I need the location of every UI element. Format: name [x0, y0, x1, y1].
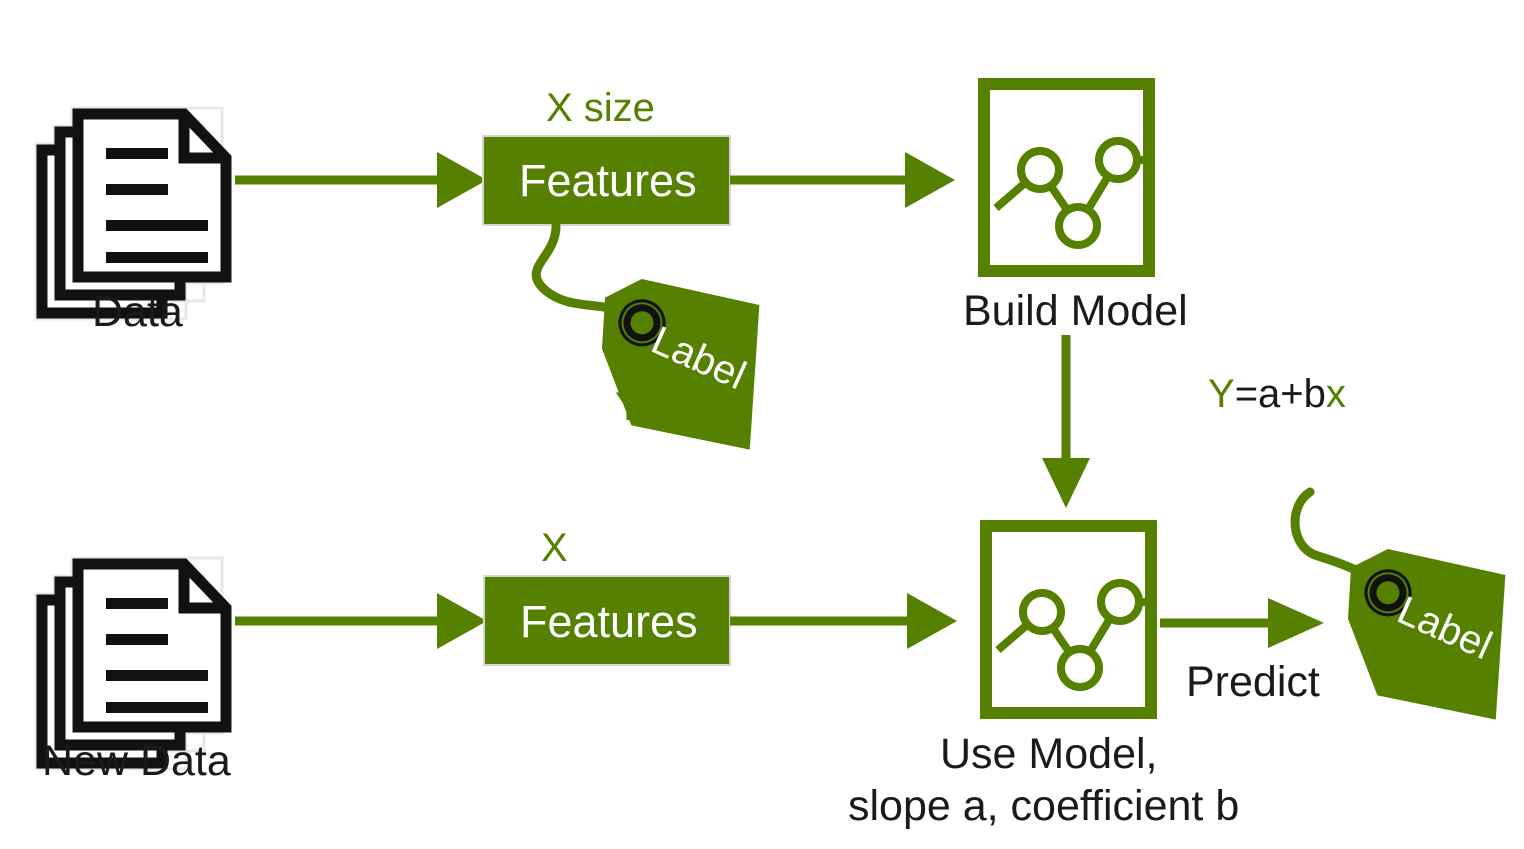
features-bottom-annotation: X — [541, 528, 568, 568]
use-model-caption-line2: slope a, coefficient b — [848, 785, 1239, 828]
model-formula: Y=a+bx — [1208, 374, 1346, 414]
use-model-caption-line1: Use Model, — [940, 733, 1157, 776]
tag-annotation-y: Y — [615, 387, 642, 427]
formula-middle: =a+b — [1235, 372, 1326, 416]
build-model-caption: Build Model — [963, 290, 1188, 333]
arrow-features-to-use-model — [730, 593, 957, 649]
arrow-predict — [1160, 598, 1324, 648]
predict-label: Predict — [1186, 661, 1320, 704]
diagram-graphics — [0, 0, 1524, 849]
features-top-annotation: X size — [546, 88, 655, 128]
arrow-data-to-features — [235, 152, 487, 208]
data-caption: Data — [92, 291, 183, 334]
arrow-features-to-build-model — [730, 152, 955, 208]
arrow-newdata-to-features — [235, 593, 487, 649]
formula-lhs: Y — [1208, 372, 1235, 416]
new-data-caption: New Data — [42, 740, 231, 783]
build-model-icon — [984, 84, 1149, 271]
formula-rhs: x — [1326, 372, 1346, 416]
diagram-canvas: X size Features Data Label Y Build Model… — [0, 0, 1524, 849]
arrow-build-to-use-model — [1042, 335, 1090, 508]
use-model-icon — [986, 526, 1151, 713]
features-label-bottom: Features — [520, 599, 698, 644]
features-label-top: Features — [519, 158, 697, 203]
